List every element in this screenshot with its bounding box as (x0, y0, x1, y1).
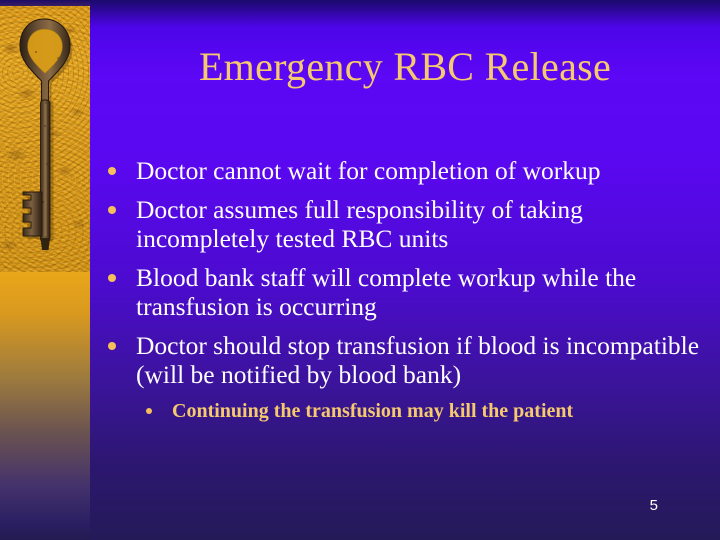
sub-bullet-marker-icon (146, 408, 152, 414)
bullet-marker-icon (108, 342, 116, 350)
bullet-marker-icon (108, 274, 116, 282)
slide-body: Doctor cannot wait for completion of wor… (100, 156, 702, 423)
key-icon (0, 6, 90, 272)
presentation-slide: Emergency RBC Release Doctor cannot wait… (0, 0, 720, 540)
sub-bullet-text: Continuing the transfusion may kill the … (172, 400, 573, 422)
sub-bullet-item: Continuing the transfusion may kill the … (100, 399, 702, 423)
bullet-marker-icon (108, 206, 116, 214)
bullet-marker-icon (108, 167, 116, 175)
bullet-item: Doctor should stop transfusion if blood … (100, 331, 702, 390)
bullet-text: Blood bank staff will complete workup wh… (136, 263, 636, 322)
bullet-text: Doctor assumes full responsibility of ta… (136, 195, 583, 254)
bullet-item: Doctor assumes full responsibility of ta… (100, 195, 702, 254)
sidebar-decoration-band (0, 0, 90, 540)
bullet-text: Doctor cannot wait for completion of wor… (136, 156, 601, 185)
slide-title: Emergency RBC Release (96, 44, 714, 90)
bullet-item: Blood bank staff will complete workup wh… (100, 263, 702, 322)
bullet-item: Doctor cannot wait for completion of wor… (100, 156, 702, 186)
key-photograph (0, 6, 90, 272)
bullet-text: Doctor should stop transfusion if blood … (136, 331, 699, 390)
page-number: 5 (650, 498, 658, 514)
